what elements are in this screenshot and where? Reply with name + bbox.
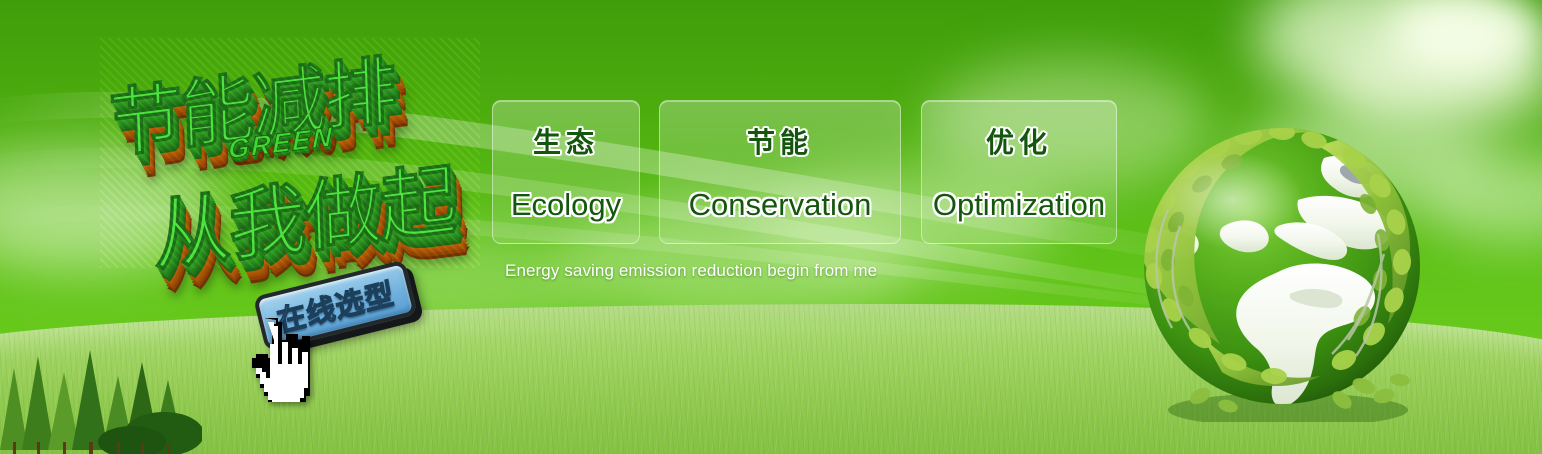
cloud-icon [1392,0,1542,72]
feature-card-zh-label: 节能 [747,121,813,161]
online-selection-label: 在线选型 [273,270,397,340]
grass-field [0,304,1542,454]
hero-green-word: GREEN [228,121,334,165]
conifer-treeline-icon [930,318,1400,374]
cloud-icon [1330,20,1542,130]
grass-texture [0,304,1542,454]
ground-layer [0,304,1542,454]
online-selection-button[interactable]: 在线选型 [253,260,418,352]
hero-3d-headline: 节能减排 GREEN 从我做起 [100,38,480,268]
feature-card-optimization[interactable]: 优化 Optimization [921,100,1117,244]
conifer-treeline-icon [560,330,980,378]
cloud-icon [0,140,230,250]
feature-card-ecology[interactable]: 生态 Ecology [492,100,640,244]
cloud-icon [0,190,200,276]
cloud-icon [1420,150,1542,242]
feature-card-en-label: Conservation [689,187,872,223]
feature-card-conservation[interactable]: 节能 Conservation [659,100,901,244]
tagline: Energy saving emission reduction begin f… [505,261,877,281]
online-selection-cta-wrap: 在线选型 [253,259,423,358]
feature-card-zh-label: 优化 [986,121,1052,161]
hero-weave-texture [100,38,480,268]
hero-headline-line1: 节能减排 [107,30,397,172]
feature-card-en-label: Optimization [933,187,1105,223]
conifer-trees-left-icon [0,346,202,454]
cloud-icon [1255,0,1525,108]
hero-headline-line2: 从我做起 [151,137,457,286]
feature-card-zh-label: 生态 [533,121,599,161]
leafy-earth-globe-icon [1128,114,1436,422]
green-energy-banner: 节能减排 GREEN 从我做起 在线选型 生态 Ecology 节能 Conse… [0,0,1542,454]
cloud-icon [1240,105,1490,209]
feature-card-en-label: Ecology [511,187,621,223]
